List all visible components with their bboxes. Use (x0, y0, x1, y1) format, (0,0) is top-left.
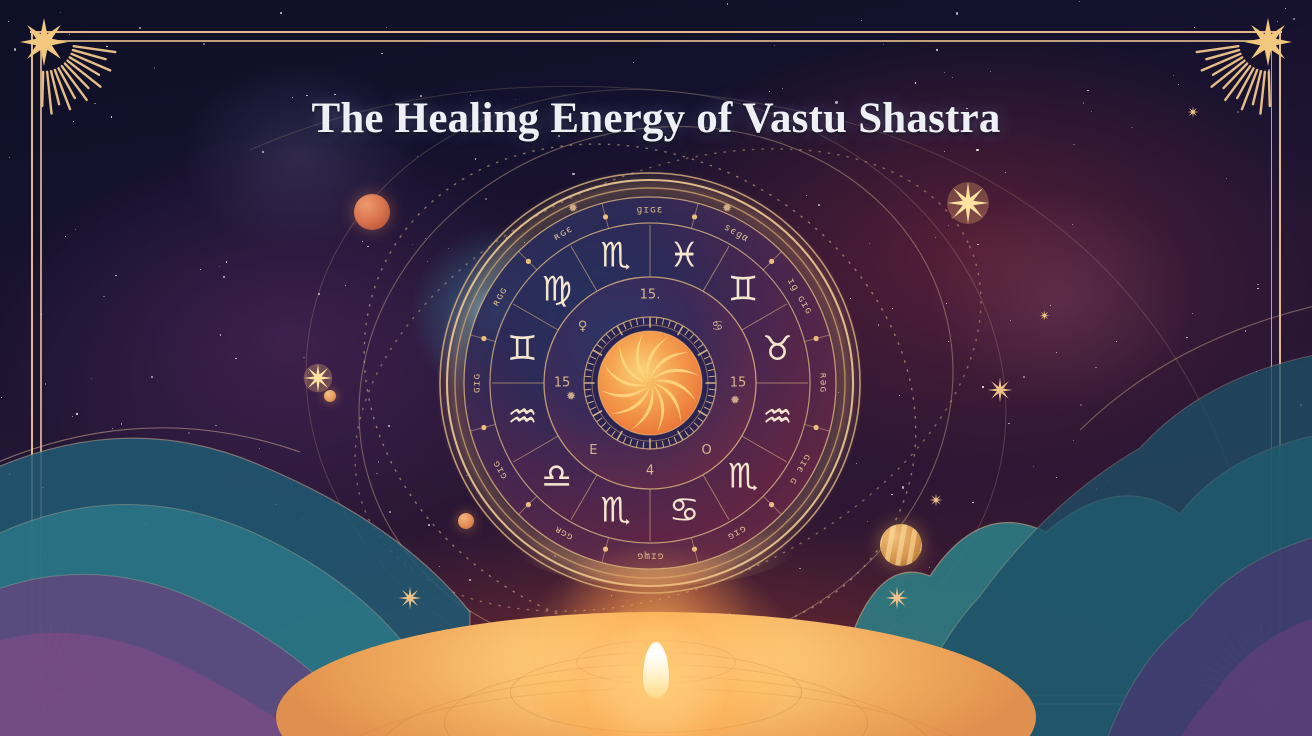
poster-canvas: ɡɪɢɛsєɡαɪɡ ɢɪɢʀəɢɢɪє ɢɢɪɢɢɪɰɢɢɢʀɢɪɢɢɪɢʀɢ… (0, 0, 1312, 736)
face-sparkle: ✹ (568, 201, 578, 215)
inner-ring-label: E (589, 443, 597, 458)
zodiac-symbol-libra[interactable]: ♎ (541, 456, 571, 496)
inner-ring-label: ♋ (712, 319, 724, 334)
star-lower-right-icon (885, 586, 909, 610)
zodiac-symbol-cancer[interactable]: ♋ (669, 491, 699, 531)
face-sparkle: ✹ (722, 201, 732, 215)
inner-ring-label: 15. (640, 288, 661, 303)
tick-mark (643, 442, 644, 447)
outer-ring-glyph: ɢɪɢ (472, 373, 483, 393)
star-glyph (304, 364, 333, 393)
star-right-mid-icon (987, 377, 1013, 403)
zodiac-symbol-virgo[interactable]: ♍ (541, 270, 571, 310)
inner-ring-label: 4 (646, 464, 654, 479)
star-glyph (399, 587, 422, 610)
outer-ring-glyph: ɡɪɢɛ (637, 205, 664, 216)
zodiac-symbol-aquarius-alt[interactable]: ♒ (507, 397, 537, 437)
star-glyph (929, 493, 942, 506)
outer-ring-glyph: ʀəɢ (818, 373, 829, 393)
tick-mark (709, 376, 714, 377)
bright-star-upper-right-icon (946, 181, 990, 225)
star-left-mid-icon (303, 363, 333, 393)
star-small-far-right-icon (1039, 310, 1050, 321)
tick-mark (656, 442, 657, 447)
star-glyph (947, 182, 989, 224)
face-sparkle: ✹ (730, 393, 740, 407)
zodiac-symbol-aries-moon[interactable]: ♊ (728, 270, 758, 310)
zodiac-symbol-scorpio-top[interactable]: ♏ (601, 236, 631, 276)
flame-glow (506, 546, 806, 736)
zodiac-symbol-scorpio[interactable]: ♏ (728, 456, 758, 496)
jupiter-planet (880, 524, 922, 566)
inner-ring-label: O (701, 443, 711, 458)
star-lower-left-icon (398, 586, 422, 610)
zodiac-symbol-pisces[interactable]: ♓ (669, 236, 699, 276)
tick-mark (585, 389, 590, 390)
inner-ring-label: 15 (730, 376, 747, 391)
page-title: The Healing Energy of Vastu Shastra (0, 94, 1312, 143)
zodiac-symbol-gemini[interactable]: ♊ (507, 329, 537, 369)
star-glyph (988, 378, 1013, 403)
tick-mark (643, 318, 644, 323)
tick-mark (656, 318, 657, 323)
star-small-right-icon (929, 493, 943, 507)
face-sparkle: ✹ (566, 389, 576, 403)
zodiac-symbol-taurus[interactable]: ♉ (762, 329, 792, 369)
inner-ring-label: ♀ (578, 319, 588, 334)
red-planet (354, 194, 390, 230)
star-glyph (1039, 310, 1049, 320)
star-glyph (886, 587, 909, 610)
zodiac-wheel-svg[interactable]: ɡɪɢɛsєɡαɪɡ ɢɪɢʀəɢɢɪє ɢɢɪɢɢɪɰɢɢɢʀɢɪɢɢɪɢʀɢ… (435, 168, 865, 598)
tick-mark (709, 389, 714, 390)
tick-mark (585, 376, 590, 377)
zodiac-wheel[interactable]: ɡɪɢɛsєɡαɪɡ ɢɪɢʀəɢɢɪє ɢɢɪɢɢɪɰɢɢɢʀɢɪɢɢɪɢʀɢ… (435, 168, 865, 598)
sun-core (598, 331, 702, 435)
zodiac-symbol-aquarius[interactable]: ♒ (762, 397, 792, 437)
zodiac-symbol-scorpio-alt[interactable]: ♏ (601, 491, 631, 531)
